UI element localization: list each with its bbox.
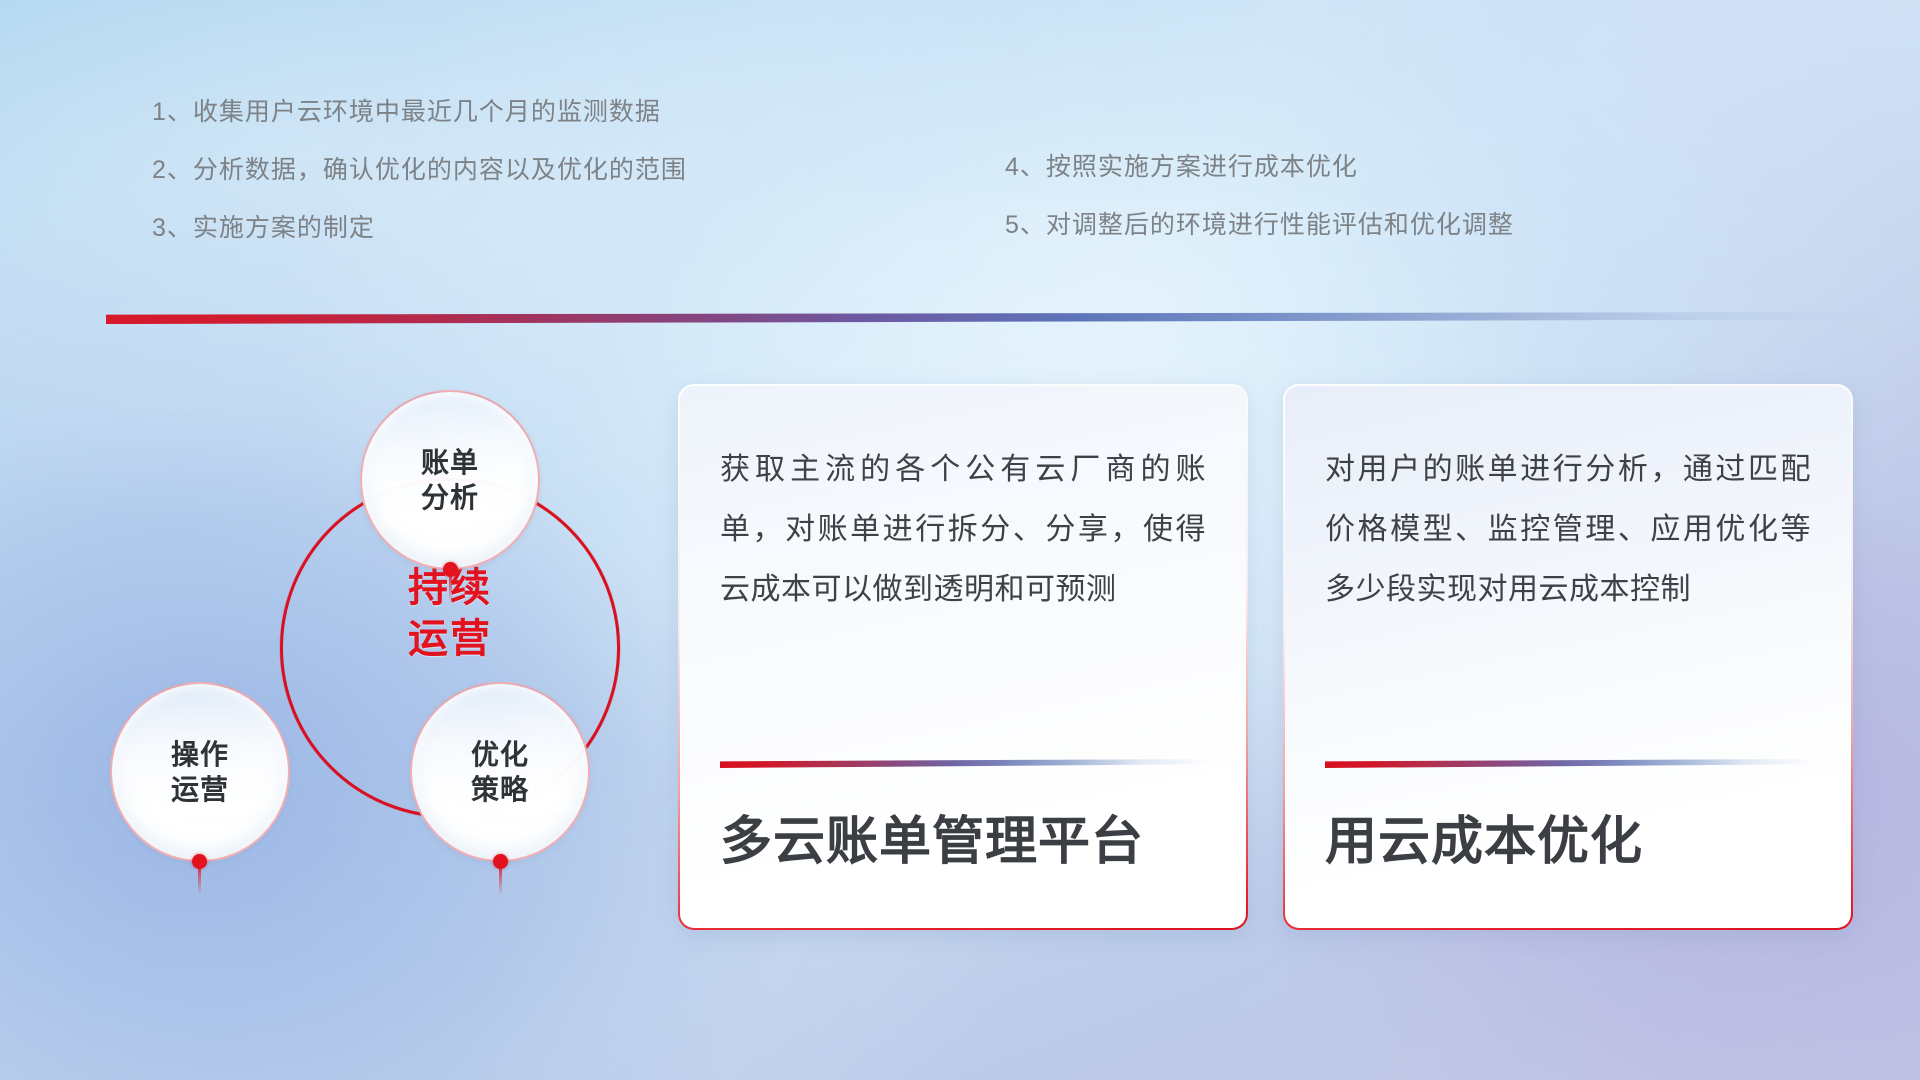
section-divider-bar xyxy=(106,312,1896,324)
feature-card-2-description: 对用户的账单进行分析，通过匹配价格模型、监控管理、应用优化等多少段实现对用云成本… xyxy=(1325,440,1811,620)
venn-center-label-line2: 运营 xyxy=(280,614,620,665)
step-item-3: 3、实施方案的制定 xyxy=(152,216,687,241)
feature-card-1-inner: 获取主流的各个公有云厂商的账单，对账单进行拆分、分享，使得云成本可以做到透明和可… xyxy=(680,386,1246,928)
venn-diagram: 持续 运营 账单 分析 操作 运营 优化 策略 xyxy=(95,345,655,945)
venn-node-top-line1: 账单 xyxy=(421,445,479,480)
feature-card-1-title: 多云账单管理平台 xyxy=(720,799,1220,874)
venn-connector-left xyxy=(198,865,201,895)
venn-node-left-label: 操作 运营 xyxy=(171,737,229,807)
feature-card-multicloud-billing[interactable]: 获取主流的各个公有云厂商的账单，对账单进行拆分、分享，使得云成本可以做到透明和可… xyxy=(678,384,1248,930)
feature-card-1-description: 获取主流的各个公有云厂商的账单，对账单进行拆分、分享，使得云成本可以做到透明和可… xyxy=(720,440,1206,620)
feature-card-cost-optimization[interactable]: 对用户的账单进行分析，通过匹配价格模型、监控管理、应用优化等多少段实现对用云成本… xyxy=(1283,384,1853,930)
venn-node-left-line2: 运营 xyxy=(171,772,229,807)
venn-node-top-line2: 分析 xyxy=(421,480,479,515)
venn-node-right-label: 优化 策略 xyxy=(471,737,529,807)
venn-node-bill-analysis[interactable]: 账单 分析 xyxy=(360,390,540,570)
venn-node-left-line1: 操作 xyxy=(171,737,229,772)
steps-list-right: 4、按照实施方案进行成本优化 5、对调整后的环境进行性能评估和优化调整 xyxy=(1005,155,1514,271)
steps-list-left: 1、收集用户云环境中最近几个月的监测数据 2、分析数据，确认优化的内容以及优化的… xyxy=(152,100,687,274)
venn-marker-dot-left xyxy=(192,854,207,869)
feature-card-1-divider xyxy=(720,759,1210,768)
step-item-5: 5、对调整后的环境进行性能评估和优化调整 xyxy=(1005,213,1514,238)
venn-marker-dot-right xyxy=(493,854,508,869)
step-item-1: 1、收集用户云环境中最近几个月的监测数据 xyxy=(152,100,687,125)
venn-node-optimization-strategy[interactable]: 优化 策略 xyxy=(410,682,590,862)
venn-node-operations[interactable]: 操作 运营 xyxy=(110,682,290,862)
venn-node-right-line2: 策略 xyxy=(471,772,529,807)
feature-card-2-divider-bar xyxy=(1325,759,1815,768)
step-item-4: 4、按照实施方案进行成本优化 xyxy=(1005,155,1514,180)
venn-connector-right xyxy=(499,865,502,895)
feature-card-2-inner: 对用户的账单进行分析，通过匹配价格模型、监控管理、应用优化等多少段实现对用云成本… xyxy=(1285,386,1851,928)
venn-node-top-label: 账单 分析 xyxy=(421,445,479,515)
feature-card-2-divider xyxy=(1325,759,1815,768)
step-item-2: 2、分析数据，确认优化的内容以及优化的范围 xyxy=(152,158,687,183)
section-divider xyxy=(106,312,1896,324)
venn-marker-dot-top xyxy=(443,562,458,577)
feature-card-1-divider-bar xyxy=(720,759,1210,768)
feature-card-2-title: 用云成本优化 xyxy=(1325,799,1825,874)
venn-connector-top xyxy=(449,573,452,603)
venn-node-right-line1: 优化 xyxy=(471,737,529,772)
